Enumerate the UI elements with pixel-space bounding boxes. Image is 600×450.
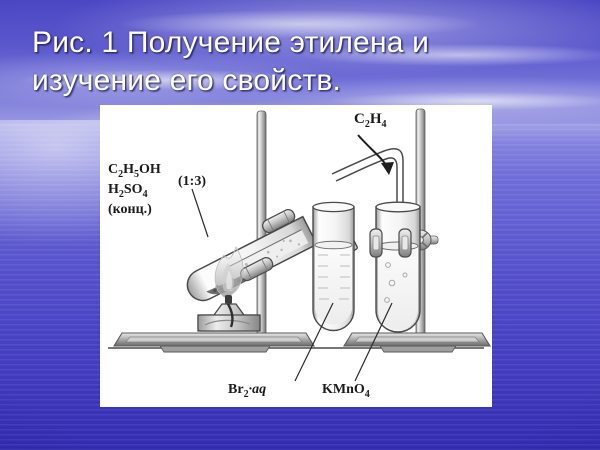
label-sulfuric-acid: H2SO4	[108, 182, 148, 200]
label-permanganate: KMnO4	[322, 382, 370, 400]
label-ethanol-h: H	[123, 162, 134, 177]
tube-holder-clamp-right	[399, 229, 411, 257]
label-ethylene-sub4: 4	[382, 119, 387, 130]
label-ethylene-h: H	[370, 111, 382, 127]
test-tube-bromine-water	[313, 202, 354, 330]
label-acid-so: SO	[124, 182, 143, 197]
label-ethanol-c: C	[108, 162, 118, 177]
label-ethanol-oh: OH	[139, 162, 161, 177]
tube-holder-clamp-left	[370, 229, 382, 257]
figure-image-panel: C2H5OH H2SO4 (конц.) (1:3) C2H4	[100, 105, 492, 407]
label-acid-h: H	[108, 182, 119, 197]
test-tube-permanganate	[376, 202, 420, 332]
label-bromine-water: Br2·aq	[228, 382, 266, 400]
left-stand-base	[114, 333, 314, 352]
svg-text:C2H4: C2H4	[354, 111, 387, 130]
label-kmno-sub4: 4	[365, 389, 370, 400]
right-stand-base	[344, 333, 490, 352]
label-concentration: (конц.)	[108, 202, 152, 217]
page-title: Рис. 1 Получение этилена и изучение его …	[32, 24, 502, 100]
label-ethylene: C2H4	[354, 111, 387, 130]
label-acid-sub4: 4	[143, 189, 148, 200]
svg-text:KMnO4: KMnO4	[322, 382, 370, 400]
svg-text:Br2·aq: Br2·aq	[228, 382, 266, 400]
label-br-text: Br	[228, 382, 244, 397]
label-ethanol: C2H5OH	[108, 162, 161, 180]
label-br-aq: ·aq	[249, 382, 267, 397]
leader-line-reagents	[192, 189, 208, 237]
label-kmno-text: KMnO	[322, 382, 365, 397]
label-ratio: (1:3)	[178, 174, 206, 189]
reaction-test-tube	[182, 217, 317, 306]
presentation-slide: Рис. 1 Получение этилена и изучение его …	[0, 0, 600, 450]
label-ethylene-c: C	[354, 111, 365, 127]
